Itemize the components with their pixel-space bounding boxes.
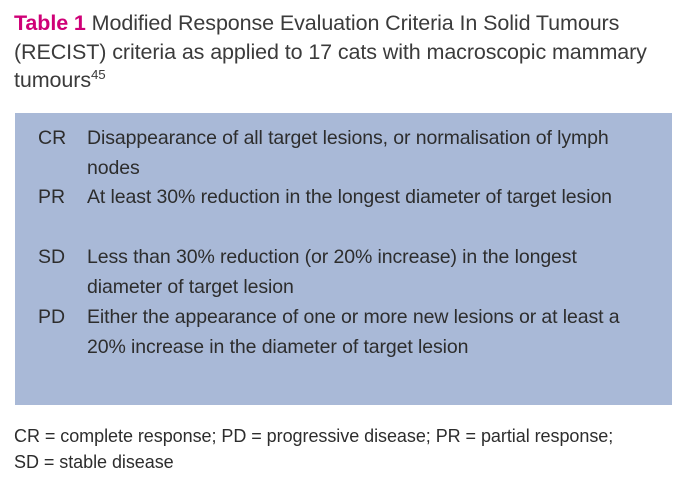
criteria-description-sd: Less than 30% reduction (or 20% increase… bbox=[87, 243, 672, 303]
table-row: SD Less than 30% reduction (or 20% incre… bbox=[15, 243, 672, 303]
table-row: PR At least 30% reduction in the longest… bbox=[15, 183, 672, 213]
table-caption: Table 1 Modified Response Evaluation Cri… bbox=[14, 9, 674, 95]
table-figure: Table 1 Modified Response Evaluation Cri… bbox=[0, 0, 690, 491]
criteria-code-pd: PD bbox=[15, 303, 87, 333]
table-caption-text: Modified Response Evaluation Criteria In… bbox=[14, 11, 647, 92]
criteria-code-sd: SD bbox=[15, 243, 87, 273]
criteria-description-cr: Disappearance of all target lesions, or … bbox=[87, 124, 672, 184]
criteria-description-pr: At least 30% reduction in the longest di… bbox=[87, 183, 672, 213]
criteria-code-cr: CR bbox=[15, 124, 87, 154]
table-row: CR Disappearance of all target lesions, … bbox=[15, 124, 672, 184]
criteria-description-pd: Either the appearance of one or more new… bbox=[87, 303, 672, 363]
criteria-code-pr: PR bbox=[15, 183, 87, 213]
table-footnote: CR = complete response; PD = progressive… bbox=[14, 423, 639, 475]
criteria-table-body: CR Disappearance of all target lesions, … bbox=[15, 113, 672, 405]
table-number-label: Table 1 bbox=[14, 11, 86, 35]
table-caption-reference: 45 bbox=[91, 67, 106, 82]
table-row: PD Either the appearance of one or more … bbox=[15, 303, 672, 363]
